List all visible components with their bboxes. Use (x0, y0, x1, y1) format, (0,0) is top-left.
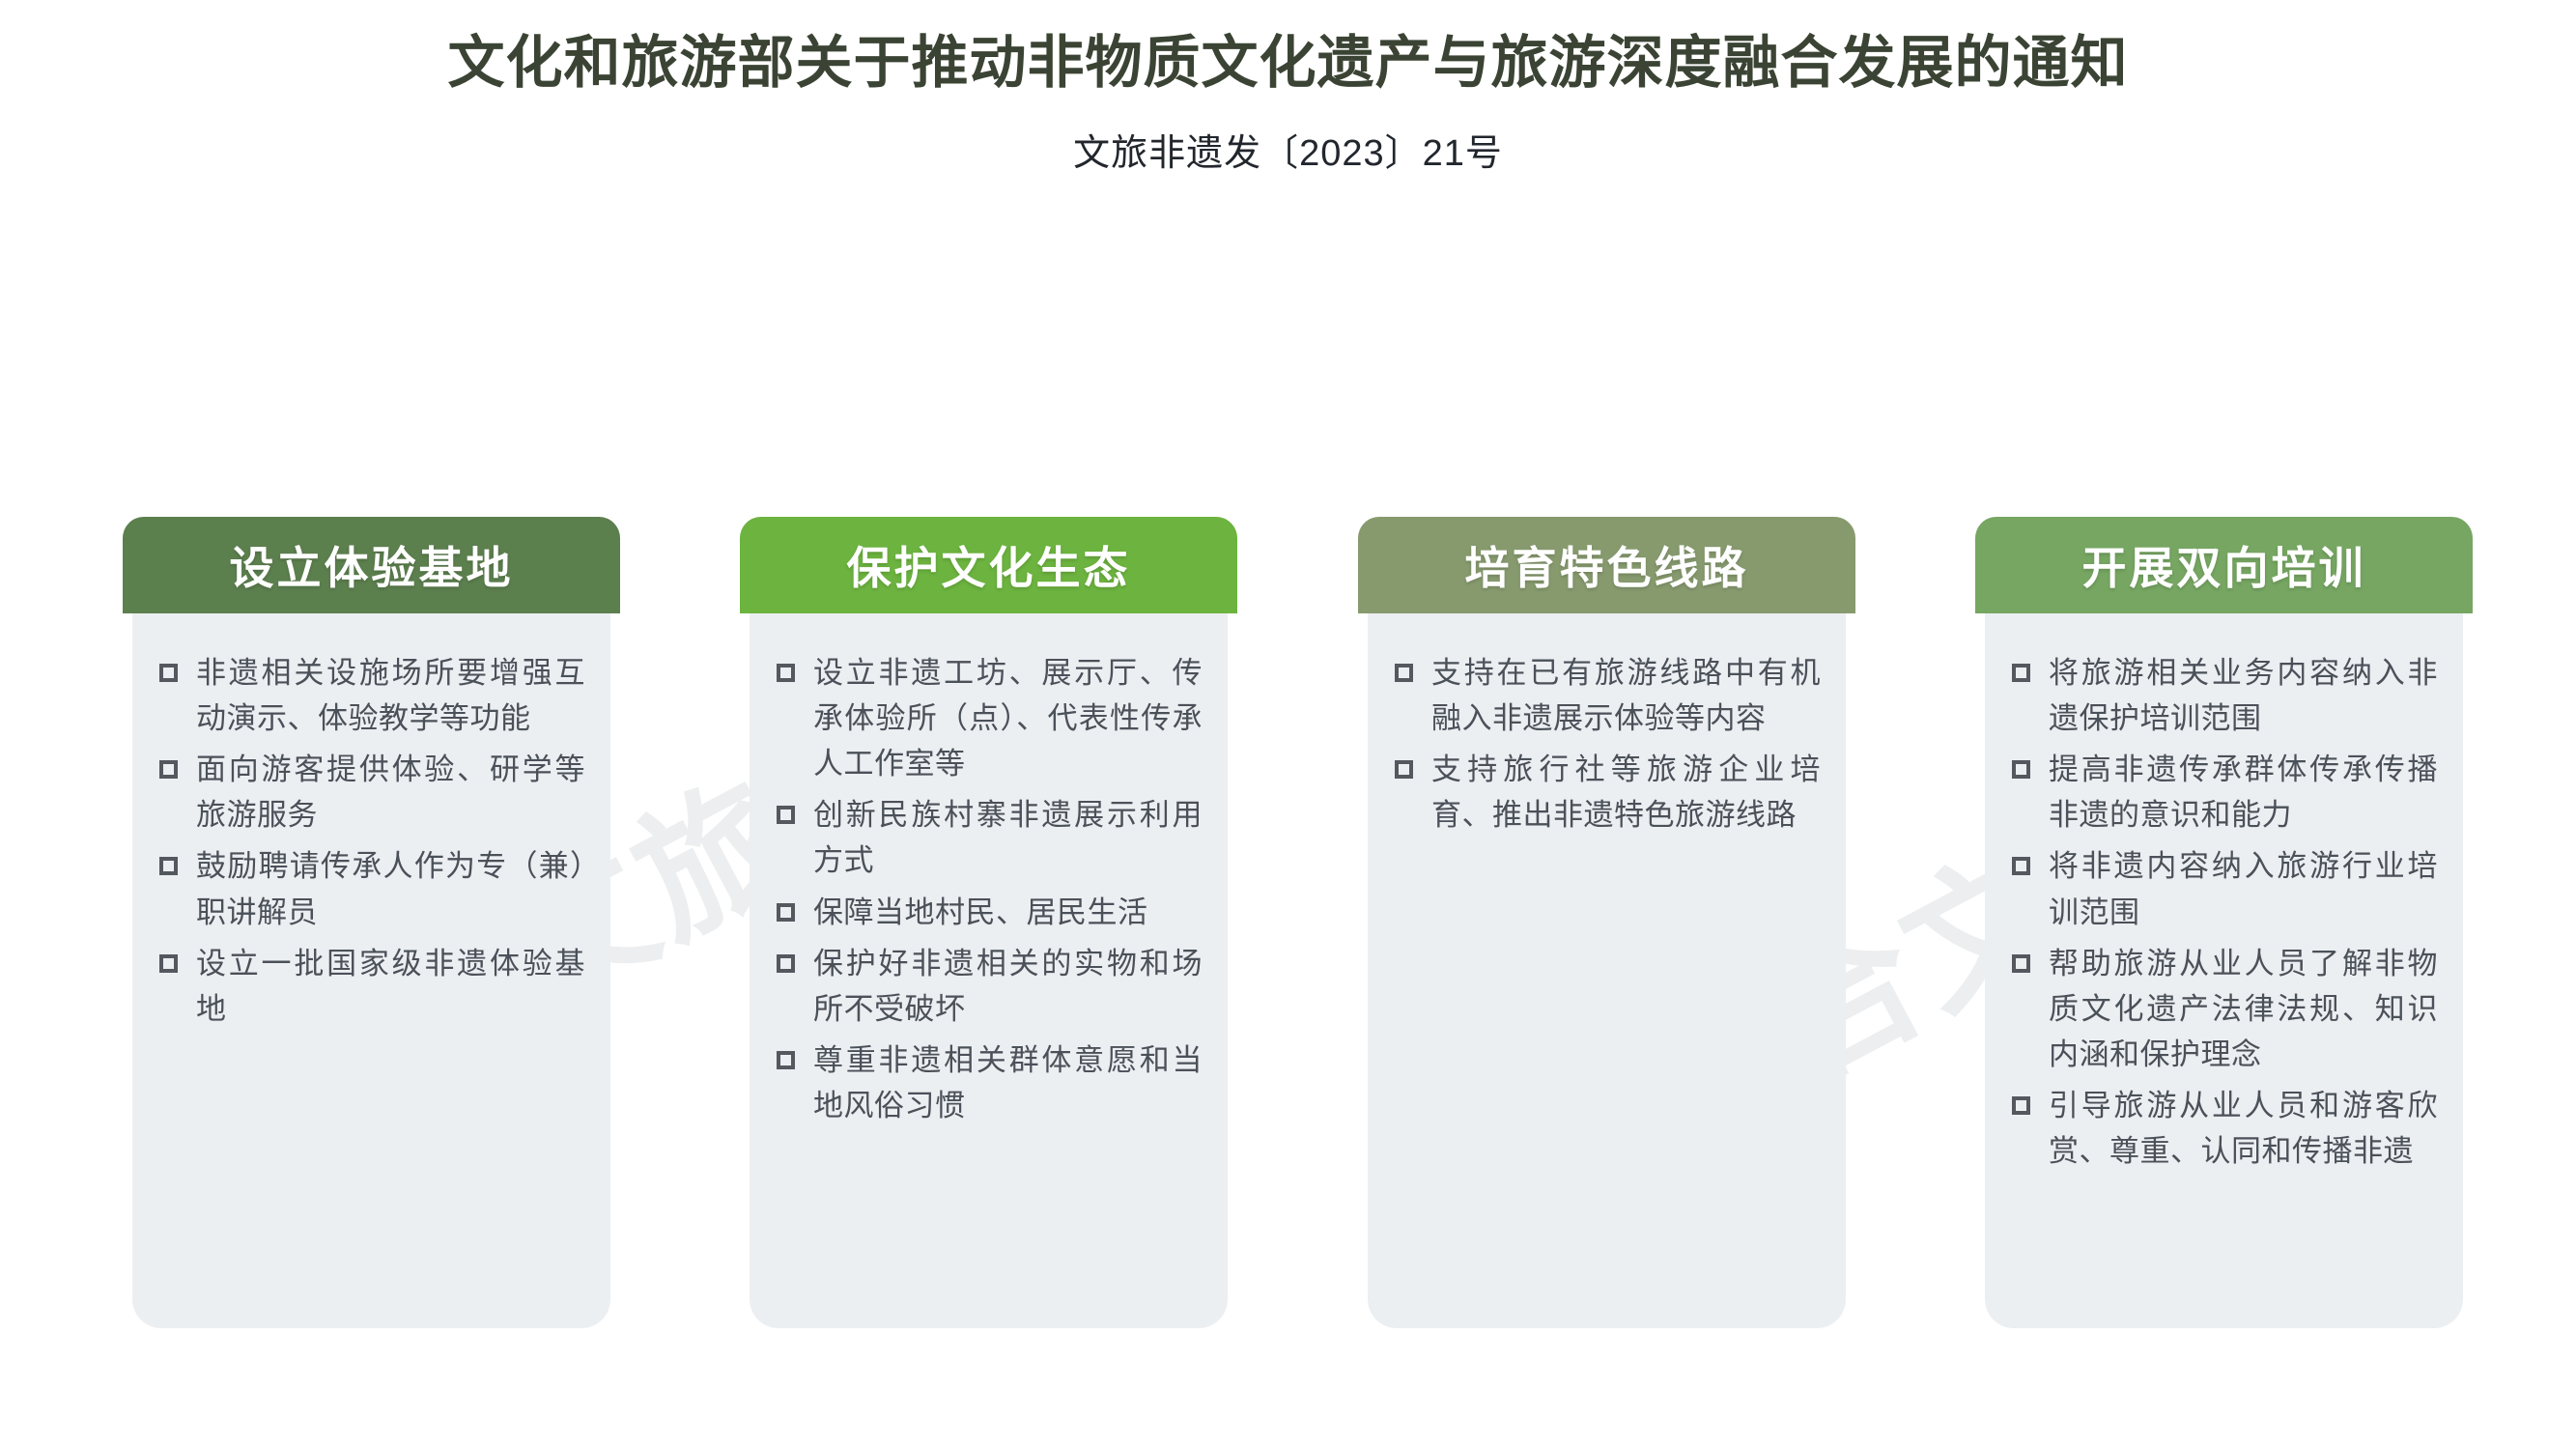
square-bullet-icon (159, 664, 178, 682)
list-item: 将旅游相关业务内容纳入非遗保护培训范围 (2010, 650, 2438, 741)
list-item-text: 鼓励聘请传承人作为专（兼）职讲解员 (196, 849, 585, 928)
list-item: 保护好非遗相关的实物和场所不受破坏 (775, 941, 1203, 1032)
square-bullet-icon (159, 760, 178, 779)
square-bullet-icon (2012, 954, 2030, 973)
square-bullet-icon (2012, 664, 2030, 682)
list-item-text: 保障当地村民、居民生活 (813, 895, 1148, 929)
square-bullet-icon (159, 954, 178, 973)
list-item: 保障当地村民、居民生活 (775, 890, 1203, 935)
list-item-text: 非遗相关设施场所要增强互动演示、体验教学等功能 (196, 656, 585, 735)
card-2-header: 保护文化生态 (740, 517, 1237, 613)
list-item-text: 创新民族村寨非遗展示利用方式 (813, 798, 1203, 877)
card-2-title: 保护文化生态 (847, 533, 1131, 597)
list-item: 创新民族村寨非遗展示利用方式 (775, 792, 1203, 883)
list-item: 将非遗内容纳入旅游行业培训范围 (2010, 843, 2438, 934)
list-item-text: 帮助旅游从业人员了解非物质文化遗产法律法规、知识内涵和保护理念 (2049, 947, 2438, 1071)
list-item-text: 设立一批国家级非遗体验基地 (196, 947, 585, 1026)
square-bullet-icon (2012, 1096, 2030, 1115)
page-title: 文化和旅游部关于推动非物质文化遗产与旅游深度融合发展的通知 (0, 0, 2576, 98)
list-item-text: 尊重非遗相关群体意愿和当地风俗习惯 (813, 1043, 1203, 1122)
card-3-body: 支持在已有旅游线路中有机融入非遗展示体验等内容 支持旅行社等旅游企业培育、推出非… (1368, 613, 1846, 1328)
list-item-text: 保护好非遗相关的实物和场所不受破坏 (813, 947, 1203, 1026)
list-item-text: 支持旅行社等旅游企业培育、推出非遗特色旅游线路 (1431, 753, 1821, 832)
square-bullet-icon (777, 664, 795, 682)
card-4-body: 将旅游相关业务内容纳入非遗保护培训范围 提高非遗传承群体传承传播非遗的意识和能力… (1985, 613, 2463, 1328)
list-item-text: 面向游客提供体验、研学等旅游服务 (196, 753, 585, 832)
document-number: 文旅非遗发〔2023〕21号 (0, 98, 2576, 176)
card-3-header: 培育特色线路 (1358, 517, 1855, 613)
list-item-text: 提高非遗传承群体传承传播非遗的意识和能力 (2049, 753, 2438, 832)
measure-card-2: 保护文化生态 设立非遗工坊、展示厅、传承体验所（点）、代表性传承人工作室等 创新… (740, 517, 1237, 1328)
card-2-bullet-list: 设立非遗工坊、展示厅、传承体验所（点）、代表性传承人工作室等 创新民族村寨非遗展… (775, 650, 1203, 1128)
list-item: 设立非遗工坊、展示厅、传承体验所（点）、代表性传承人工作室等 (775, 650, 1203, 786)
card-1-body: 非遗相关设施场所要增强互动演示、体验教学等功能 面向游客提供体验、研学等旅游服务… (132, 613, 610, 1328)
list-item: 帮助旅游从业人员了解非物质文化遗产法律法规、知识内涵和保护理念 (2010, 941, 2438, 1077)
list-item-text: 引导旅游从业人员和游客欣赏、尊重、认同和传播非遗 (2049, 1089, 2438, 1168)
square-bullet-icon (1395, 760, 1413, 779)
square-bullet-icon (159, 857, 178, 875)
list-item: 面向游客提供体验、研学等旅游服务 (157, 747, 585, 838)
card-4-bullet-list: 将旅游相关业务内容纳入非遗保护培训范围 提高非遗传承群体传承传播非遗的意识和能力… (2010, 650, 2438, 1174)
list-item: 引导旅游从业人员和游客欣赏、尊重、认同和传播非遗 (2010, 1083, 2438, 1174)
list-item: 尊重非遗相关群体意愿和当地风俗习惯 (775, 1037, 1203, 1128)
list-item-text: 将非遗内容纳入旅游行业培训范围 (2049, 849, 2438, 928)
card-2-body: 设立非遗工坊、展示厅、传承体验所（点）、代表性传承人工作室等 创新民族村寨非遗展… (750, 613, 1228, 1328)
list-item-text: 支持在已有旅游线路中有机融入非遗展示体验等内容 (1431, 656, 1821, 735)
list-item: 鼓励聘请传承人作为专（兼）职讲解员 (157, 843, 585, 934)
list-item: 支持在已有旅游线路中有机融入非遗展示体验等内容 (1393, 650, 1821, 741)
card-3-bullet-list: 支持在已有旅游线路中有机融入非遗展示体验等内容 支持旅行社等旅游企业培育、推出非… (1393, 650, 1821, 838)
measure-card-3: 培育特色线路 支持在已有旅游线路中有机融入非遗展示体验等内容 支持旅行社等旅游企… (1358, 517, 1855, 1328)
list-item: 提高非遗传承群体传承传播非遗的意识和能力 (2010, 747, 2438, 838)
square-bullet-icon (777, 1051, 795, 1069)
card-1-bullet-list: 非遗相关设施场所要增强互动演示、体验教学等功能 面向游客提供体验、研学等旅游服务… (157, 650, 585, 1032)
square-bullet-icon (2012, 760, 2030, 779)
square-bullet-icon (777, 903, 795, 922)
list-item-text: 设立非遗工坊、展示厅、传承体验所（点）、代表性传承人工作室等 (813, 656, 1203, 781)
measure-card-4: 开展双向培训 将旅游相关业务内容纳入非遗保护培训范围 提高非遗传承群体传承传播非… (1975, 517, 2473, 1328)
square-bullet-icon (777, 954, 795, 973)
square-bullet-icon (1395, 664, 1413, 682)
square-bullet-icon (2012, 857, 2030, 875)
list-item: 设立一批国家级非遗体验基地 (157, 941, 585, 1032)
measure-card-1: 设立体验基地 非遗相关设施场所要增强互动演示、体验教学等功能 面向游客提供体验、… (123, 517, 620, 1328)
list-item-text: 将旅游相关业务内容纳入非遗保护培训范围 (2049, 656, 2438, 735)
measure-cards-row: 设立体验基地 非遗相关设施场所要增强互动演示、体验教学等功能 面向游客提供体验、… (0, 517, 2576, 1367)
card-1-title: 设立体验基地 (230, 533, 514, 597)
list-item: 非遗相关设施场所要增强互动演示、体验教学等功能 (157, 650, 585, 741)
card-4-title: 开展双向培训 (2082, 533, 2366, 597)
card-1-header: 设立体验基地 (123, 517, 620, 613)
list-item: 支持旅行社等旅游企业培育、推出非遗特色旅游线路 (1393, 747, 1821, 838)
square-bullet-icon (777, 806, 795, 824)
document-header: 文化和旅游部关于推动非物质文化遗产与旅游深度融合发展的通知 文旅非遗发〔2023… (0, 0, 2576, 176)
card-4-header: 开展双向培训 (1975, 517, 2473, 613)
card-3-title: 培育特色线路 (1465, 533, 1749, 597)
